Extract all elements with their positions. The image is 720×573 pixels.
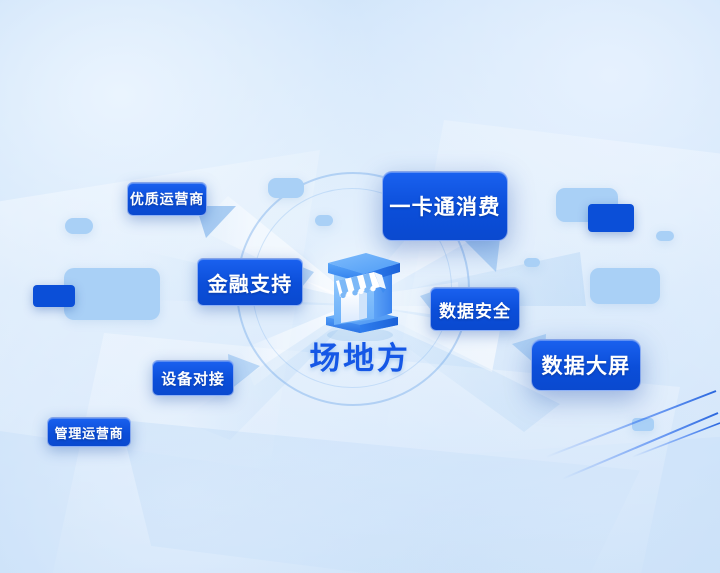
card-youzhi-yunyingshang[interactable]: 优质运营商: [127, 182, 207, 216]
deco-rect-9: [524, 258, 540, 267]
card-yikatong-xiaofei[interactable]: 一卡通消费: [382, 171, 508, 241]
card-label: 优质运营商: [130, 189, 204, 209]
page-title: 场地方: [0, 333, 720, 378]
deco-rect-6: [588, 204, 634, 232]
speed-lines: [540, 383, 720, 493]
background-facet-lower: [120, 420, 640, 573]
card-shuju-anquan[interactable]: 数据安全: [430, 287, 520, 331]
deco-rect-4: [33, 285, 75, 307]
deco-rect-1: [65, 218, 93, 234]
deco-rect-7: [556, 188, 618, 222]
card-label: 管理运营商: [55, 423, 124, 442]
card-jinrong-zhichi[interactable]: 金融支持: [197, 258, 303, 306]
card-tail-yikatong: [440, 238, 500, 278]
card-label: 一卡通消费: [389, 191, 500, 221]
infographic-canvas: 优质运营商 金融支持 一卡通消费 数据安全 数据大屏 设备对接 管理运营商: [0, 0, 720, 573]
card-guanli-yunyingshang[interactable]: 管理运营商: [47, 417, 131, 447]
card-label: 数据安全: [439, 297, 511, 322]
deco-rect-2: [64, 268, 160, 320]
deco-rect-8: [656, 231, 674, 241]
deco-rect-3: [268, 178, 304, 198]
deco-rect-10: [590, 268, 660, 304]
card-label: 金融支持: [208, 268, 293, 297]
storefront-3d-icon: [312, 243, 408, 341]
deco-rect-5: [315, 215, 333, 226]
deco-rect-11: [632, 418, 654, 431]
